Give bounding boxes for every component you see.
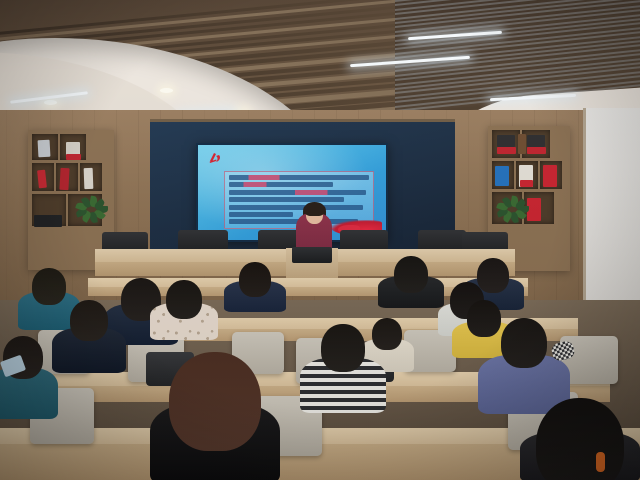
person-head-back	[239, 262, 271, 297]
woman-periwinkle-blouse	[478, 318, 570, 410]
left-monitor	[34, 215, 62, 227]
right-red-gold-book	[543, 165, 557, 187]
right-red-base	[497, 147, 516, 154]
conference-room-photo	[0, 0, 640, 480]
man-dark-polo	[378, 256, 444, 306]
party-emblem-icon	[207, 151, 223, 165]
projection-screen[interactable]	[198, 145, 386, 240]
right-white-book-base	[520, 180, 533, 187]
person-head-back	[501, 318, 547, 368]
right-brown-book	[518, 134, 526, 154]
person-head-back	[394, 256, 428, 293]
left-white-book	[84, 168, 94, 189]
wood-grain-line	[578, 110, 579, 325]
presenter-hair	[304, 202, 325, 216]
slide-text-line	[229, 197, 344, 202]
right-red-lower-book	[527, 198, 541, 221]
person-head-back	[169, 352, 261, 451]
slide-text-line	[229, 190, 366, 195]
man-navy-shirt-mid	[224, 262, 286, 310]
laptop	[292, 247, 332, 263]
man-navy-suit-left	[52, 300, 126, 370]
left-red-book-tall	[59, 168, 69, 190]
woman-long-brown-hair	[150, 352, 280, 480]
person-head-back	[166, 280, 202, 319]
wood-grain-line	[6, 110, 7, 325]
person-head-back	[536, 398, 624, 480]
person-striped-shirt	[300, 324, 386, 410]
slide-text-line	[229, 212, 293, 217]
person-head-back	[321, 324, 365, 372]
recessed-downlight	[44, 100, 57, 105]
slide-text-line	[229, 175, 369, 180]
left-red-box	[66, 154, 81, 160]
orange-hair-tie	[596, 452, 605, 472]
left-framed-item	[38, 140, 51, 158]
person-foreground-right	[520, 398, 640, 480]
person-head-back	[70, 300, 108, 341]
slide-text-line	[229, 205, 363, 210]
slide-text-line	[229, 182, 333, 187]
left-green-plant	[72, 196, 106, 220]
recessed-downlight	[160, 88, 173, 93]
woman-floral-blouse	[150, 280, 218, 338]
right-blue-book	[495, 166, 509, 186]
right-green-plant	[493, 196, 527, 220]
right-dark-box-2	[527, 135, 545, 147]
right-dark-box	[497, 135, 515, 147]
right-red-base-2	[527, 147, 546, 154]
